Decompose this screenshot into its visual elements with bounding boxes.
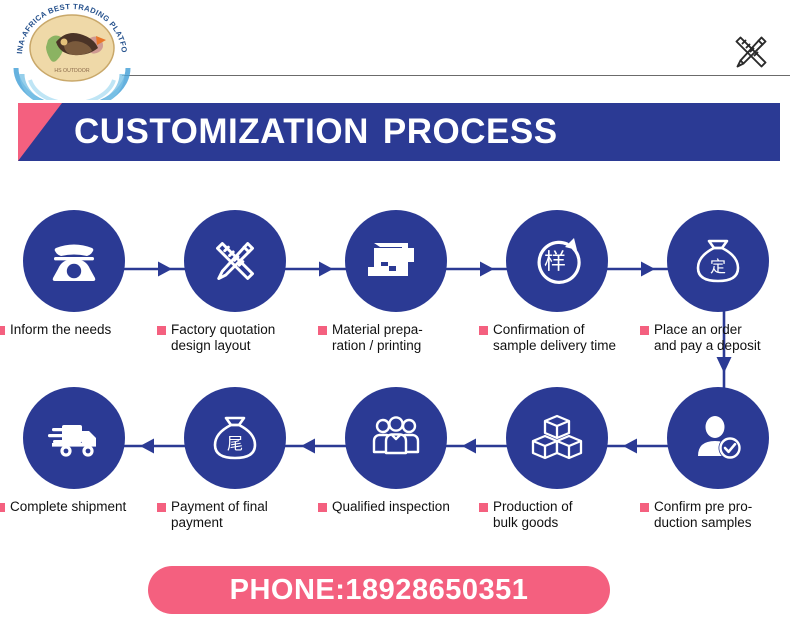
step-7-circle xyxy=(506,387,608,489)
step-5-glyph: 定 xyxy=(710,257,726,276)
process-step-5[interactable]: 定 Place an order and pay a deposit xyxy=(640,210,790,354)
step-10-circle xyxy=(23,387,125,489)
connector-step9-step10 xyxy=(122,435,190,457)
step-6-bullet xyxy=(640,503,649,512)
pencil-ruler-icon xyxy=(727,28,775,76)
page-title-word-2: PROCESS xyxy=(383,112,558,152)
step-9-glyph: 尾 xyxy=(227,434,243,453)
step-8-label: Qualified inspection xyxy=(318,499,474,515)
step-1-label: Inform the needs xyxy=(0,322,152,338)
step-6-label-text: Confirm pre pro- duction samples xyxy=(654,499,752,530)
header: CHINA-AFRICA BEST TRADING PLATFORM HS OU… xyxy=(0,0,790,100)
step-7-label: Production of bulk goods xyxy=(479,499,635,531)
process-step-2[interactable]: Factory quotation design layout xyxy=(157,210,313,354)
pencil-ruler-icon xyxy=(206,232,264,290)
page-title-banner: CUSTOMIZATION PROCESS xyxy=(18,103,780,161)
step-4-label-text: Confirmation of sample delivery time xyxy=(493,322,616,353)
connector-step4-step5 xyxy=(605,258,673,280)
material-print-icon xyxy=(368,233,424,289)
step-3-label-text: Material prepa- ration / printing xyxy=(332,322,423,353)
step-8-circle xyxy=(345,387,447,489)
step-9-label-text: Payment of final payment xyxy=(171,499,268,530)
process-step-7[interactable]: Production of bulk goods xyxy=(479,387,635,531)
step-5-circle: 定 xyxy=(667,210,769,312)
step-2-label-text: Factory quotation design layout xyxy=(171,322,275,353)
step-6-circle xyxy=(667,387,769,489)
process-flow: Inform the needs Factory quotation desig… xyxy=(0,170,790,560)
step-9-bullet xyxy=(157,503,166,512)
delivery-truck-icon xyxy=(44,408,104,468)
step-1-label-text: Inform the needs xyxy=(10,322,111,337)
step-7-label-text: Production of bulk goods xyxy=(493,499,573,530)
person-check-icon xyxy=(688,408,748,468)
step-7-bullet xyxy=(479,503,488,512)
process-step-6[interactable]: Confirm pre pro- duction samples xyxy=(640,387,790,531)
process-step-4[interactable]: 样 Confirmation of sample delivery time xyxy=(479,210,635,354)
boxes-stack-icon xyxy=(528,409,586,467)
connector-step8-step9 xyxy=(283,435,351,457)
step-3-label: Material prepa- ration / printing xyxy=(318,322,474,354)
step-9-circle: 尾 xyxy=(184,387,286,489)
step-2-label: Factory quotation design layout xyxy=(157,322,313,354)
step-1-circle xyxy=(23,210,125,312)
step-2-bullet xyxy=(157,326,166,335)
people-group-icon xyxy=(366,408,426,468)
step-6-label: Confirm pre pro- duction samples xyxy=(640,499,790,531)
sample-cycle-icon: 样 xyxy=(527,231,587,291)
step-4-bullet xyxy=(479,326,488,335)
step-10-label: Complete shipment xyxy=(0,499,152,515)
step-4-label: Confirmation of sample delivery time xyxy=(479,322,635,354)
step-5-label-text: Place an order and pay a deposit xyxy=(654,322,761,353)
step-9-label: Payment of final payment xyxy=(157,499,313,531)
connector-step3-step4 xyxy=(444,258,512,280)
page-title: CUSTOMIZATION PROCESS xyxy=(74,103,558,161)
money-bag-deposit-icon: 定 xyxy=(689,232,747,290)
step-8-label-text: Qualified inspection xyxy=(332,499,450,514)
page-title-word-1: CUSTOMIZATION xyxy=(74,112,369,152)
connector-step2-step3 xyxy=(283,258,351,280)
step-8-bullet xyxy=(318,503,327,512)
process-step-9[interactable]: 尾 Payment of final payment xyxy=(157,387,313,531)
step-10-label-text: Complete shipment xyxy=(10,499,126,514)
step-10-bullet xyxy=(0,503,5,512)
step-5-label: Place an order and pay a deposit xyxy=(640,322,790,354)
company-logo: CHINA-AFRICA BEST TRADING PLATFORM HS OU… xyxy=(8,2,136,100)
connector-step7-step8 xyxy=(444,435,512,457)
phone-banner[interactable]: PHONE:18928650351 xyxy=(148,566,610,614)
header-divider xyxy=(122,75,790,76)
step-4-glyph: 样 xyxy=(544,250,566,275)
step-1-bullet xyxy=(0,326,5,335)
connector-step1-step2 xyxy=(122,258,190,280)
customization-process-infographic: CHINA-AFRICA BEST TRADING PLATFORM HS OU… xyxy=(0,0,790,635)
step-3-circle xyxy=(345,210,447,312)
phone-text: PHONE:18928650351 xyxy=(230,574,529,607)
telephone-icon xyxy=(45,232,103,290)
process-step-3[interactable]: Material prepa- ration / printing xyxy=(318,210,474,354)
connector-step6-step7 xyxy=(605,435,673,457)
money-bag-final-icon: 尾 xyxy=(206,409,264,467)
step-3-bullet xyxy=(318,326,327,335)
step-2-circle xyxy=(184,210,286,312)
banner-accent-triangle xyxy=(18,103,62,161)
logo-sub-text: HS OUTDOOR xyxy=(54,68,89,74)
step-5-bullet xyxy=(640,326,649,335)
step-4-circle: 样 xyxy=(506,210,608,312)
